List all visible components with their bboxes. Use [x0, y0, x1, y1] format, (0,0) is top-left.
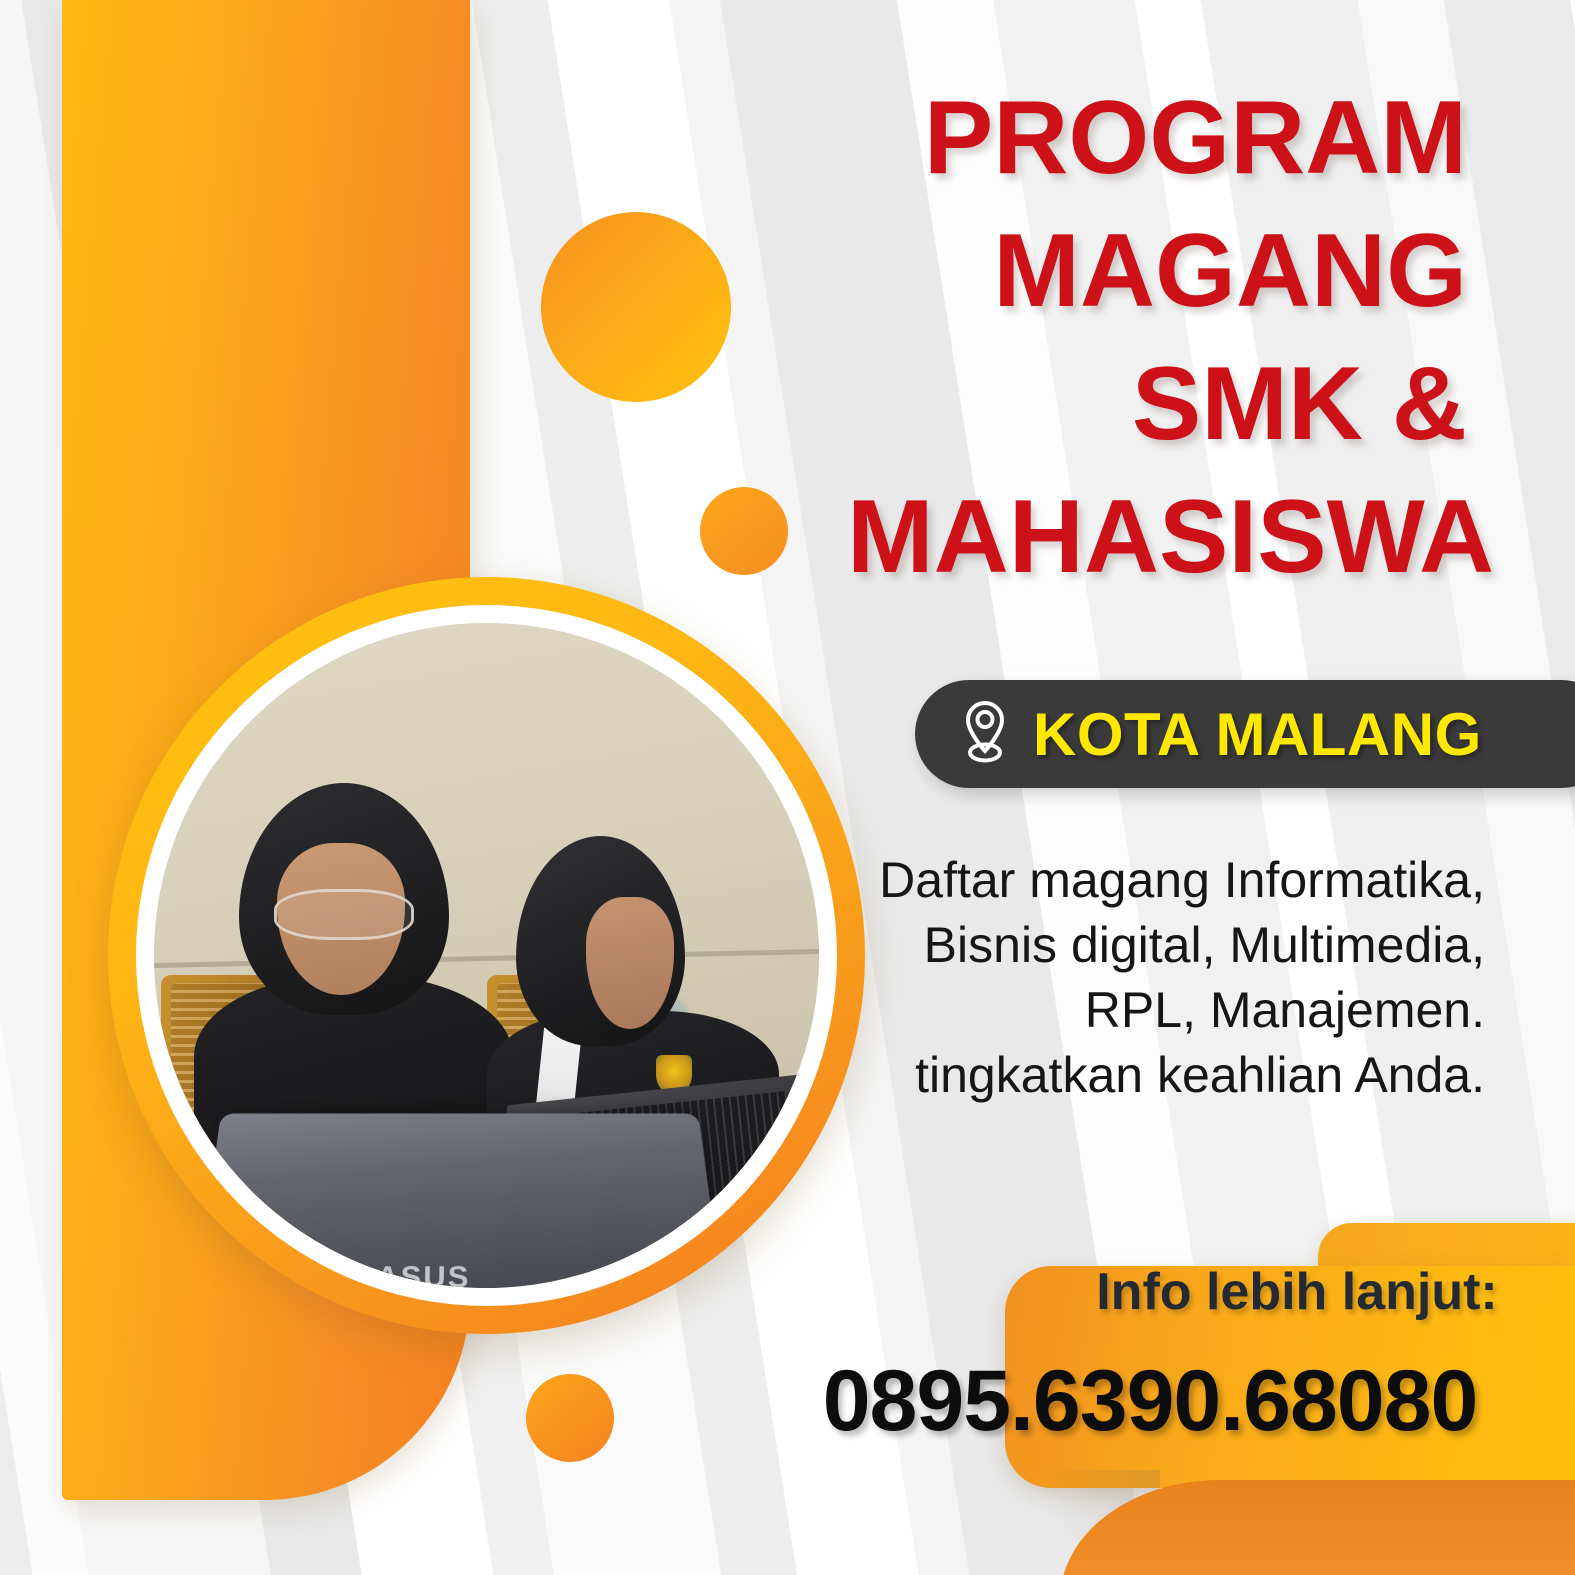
- laptop-foreground: ASUS: [192, 1113, 729, 1288]
- laptop-brand-label: ASUS: [375, 1261, 470, 1288]
- headline-line-2: MAGANG: [847, 205, 1467, 338]
- decorative-circle-large: [541, 212, 731, 402]
- location-badge-label: KOTA MALANG: [1033, 700, 1482, 769]
- headline-line-4: MAHASISWA: [847, 471, 1467, 604]
- description-line-4: tingkatkan keahlian Anda.: [845, 1043, 1485, 1108]
- promotional-poster: ASUS PROGRAM MAGANG SMK & MAHASISWA KOTA…: [0, 0, 1575, 1575]
- headline-line-1: PROGRAM: [847, 72, 1467, 205]
- page-title: PROGRAM MAGANG SMK & MAHASISWA: [847, 72, 1467, 604]
- photo-ring: ASUS: [108, 577, 865, 1334]
- photo-scene: ASUS: [154, 623, 819, 1288]
- description-line-2: Bisnis digital, Multimedia,: [845, 913, 1485, 978]
- eyeglasses-icon: [274, 889, 414, 940]
- decorative-circle-bottom: [526, 1374, 614, 1462]
- contact-phone-number[interactable]: 0895.6390.68080: [740, 1352, 1560, 1451]
- contact-info-label: Info lebih lanjut:: [1062, 1262, 1532, 1322]
- description-line-1: Daftar magang Informatika,: [845, 848, 1485, 913]
- decorative-circle-small: [700, 487, 788, 575]
- student-photo: ASUS: [154, 623, 819, 1288]
- headline-line-3: SMK &: [847, 338, 1467, 471]
- location-badge: KOTA MALANG: [915, 680, 1575, 788]
- description-line-3: RPL, Manajemen.: [845, 978, 1485, 1043]
- map-pin-icon: [959, 699, 1011, 770]
- description-paragraph: Daftar magang Informatika, Bisnis digita…: [845, 848, 1485, 1108]
